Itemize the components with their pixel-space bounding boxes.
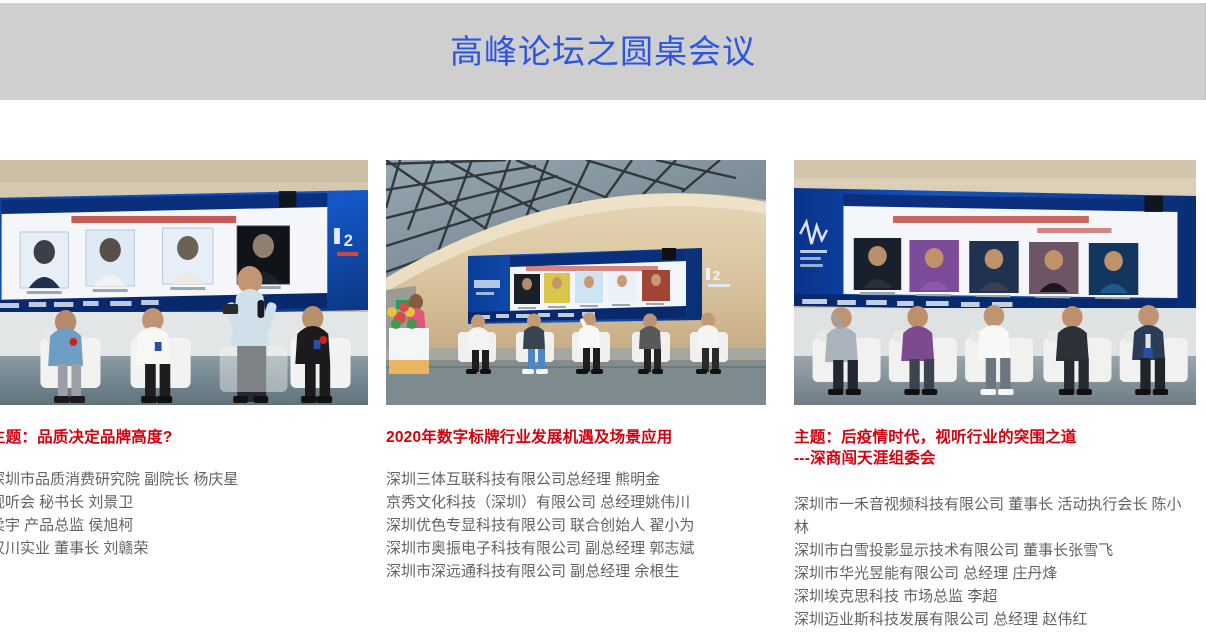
speaker-item: 深圳市奥振电子科技有限公司 副总经理 郭志斌 [386, 537, 766, 560]
session-2-speakers: 深圳三体互联科技有限公司总经理 熊明金 京秀文化科技（深圳）有限公司 总经理姚伟… [386, 468, 766, 583]
speaker-item: 深圳迈业斯科技发展有限公司 总经理 赵伟红 [794, 608, 1196, 631]
speaker-item: 柔宇 产品总监 侯旭柯 [0, 514, 368, 537]
session-1-speakers: 深圳市品质消费研究院 副院长 杨庆星 视听会 秘书长 刘景卫 柔宇 产品总监 侯… [0, 468, 368, 560]
speaker-item: 深圳埃克思科技 市场总监 李超 [794, 585, 1196, 608]
session-3-heading: 主题：后疫情时代，视听行业的突围之道 ---深商闯天涯组委会 [794, 427, 1196, 469]
session-photo-3-graphic [794, 160, 1196, 405]
session-photo-3 [794, 160, 1196, 405]
page-header-banner: 高峰论坛之圆桌会议 [0, 3, 1206, 100]
speaker-item: 深圳三体互联科技有限公司总经理 熊明金 [386, 468, 766, 491]
session-photo-2-graphic: 2 [386, 160, 766, 405]
session-column-3: 主题：后疫情时代，视听行业的突围之道 ---深商闯天涯组委会 深圳市一禾音视频科… [778, 160, 1206, 631]
speaker-item: 汉川实业 董事长 刘赣荣 [0, 537, 368, 560]
speaker-item: 深圳市白雪投影显示技术有限公司 董事长张雪飞 [794, 539, 1196, 562]
speaker-item: 深圳市华光昱能有限公司 总经理 庄丹烽 [794, 562, 1196, 585]
session-photo-1: 2 [0, 160, 368, 405]
speaker-item: 深圳市深远通科技有限公司 副总经理 余根生 [386, 560, 766, 583]
svg-text:2: 2 [344, 231, 353, 250]
session-column-1: 2 [0, 160, 378, 560]
content-columns: 2 [0, 160, 1206, 639]
session-1-heading-line-1: 主题：品质决定品牌高度? [0, 427, 368, 448]
speaker-item: 深圳市品质消费研究院 副院长 杨庆星 [0, 468, 368, 491]
session-3-heading-line-1: 主题：后疫情时代，视听行业的突围之道 [794, 427, 1196, 448]
session-2-heading-line-1: 2020年数字标牌行业发展机遇及场景应用 [386, 427, 766, 448]
session-column-2: 2 [378, 160, 778, 583]
session-3-heading-line-2: ---深商闯天涯组委会 [794, 448, 1196, 469]
session-1-heading: 主题：品质决定品牌高度? [0, 427, 368, 448]
session-2-heading: 2020年数字标牌行业发展机遇及场景应用 [386, 427, 766, 448]
speaker-item: 深圳市一禾音视频科技有限公司 董事长 活动执行会长 陈小林 [794, 493, 1196, 539]
speaker-item: 深圳优色专显科技有限公司 联合创始人 翟小为 [386, 514, 766, 537]
session-photo-2: 2 [386, 160, 766, 405]
speaker-item: 视听会 秘书长 刘景卫 [0, 491, 368, 514]
session-3-speakers: 深圳市一禾音视频科技有限公司 董事长 活动执行会长 陈小林 深圳市白雪投影显示技… [794, 493, 1196, 631]
speaker-item: 京秀文化科技（深圳）有限公司 总经理姚伟川 [386, 491, 766, 514]
svg-text:2: 2 [713, 268, 720, 283]
page-title: 高峰论坛之圆桌会议 [0, 3, 1206, 100]
session-photo-1-graphic: 2 [0, 160, 368, 405]
